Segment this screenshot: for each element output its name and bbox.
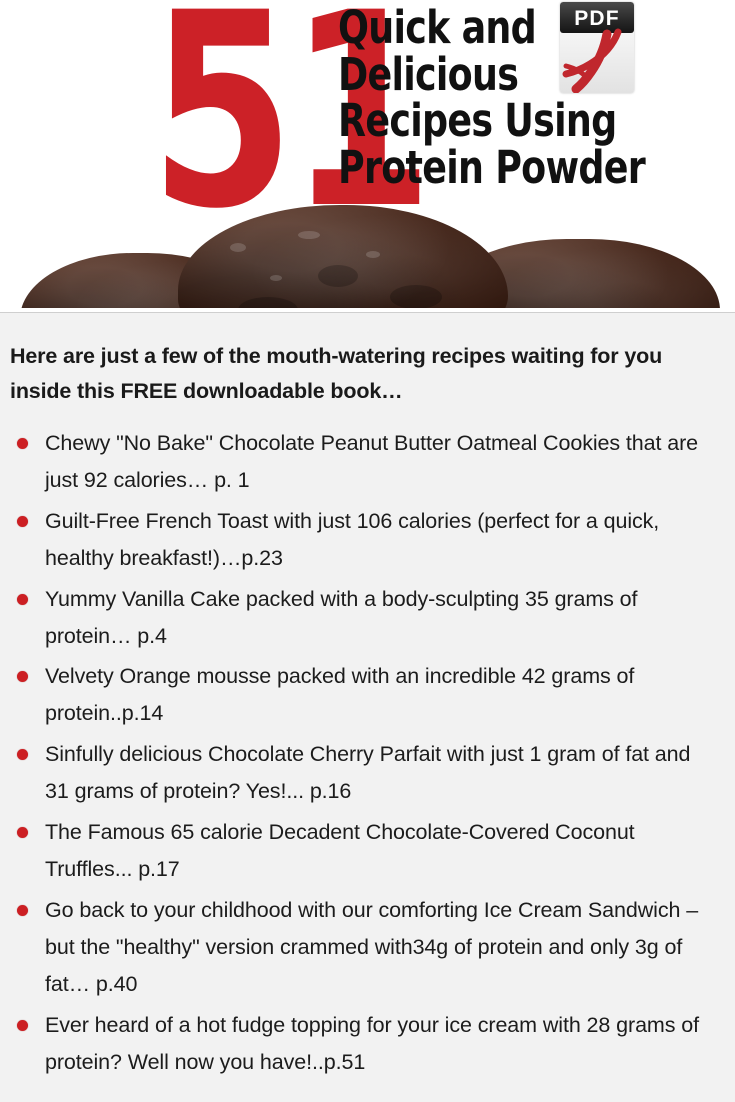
recipe-text: Sinfully delicious Chocolate Cherry Parf… (45, 742, 690, 803)
pdf-icon: PDF (560, 2, 634, 93)
list-item: Chewy "No Bake" Chocolate Peanut Butter … (0, 425, 725, 499)
list-item: Ever heard of a hot fudge topping for yo… (0, 1007, 725, 1081)
recipe-text: Guilt-Free French Toast with just 106 ca… (45, 509, 659, 570)
cookie-highlight (270, 275, 282, 281)
bullet-icon (17, 827, 28, 838)
list-item: Velvety Orange mousse packed with an inc… (0, 658, 725, 732)
content-area: Here are just a few of the mouth-waterin… (0, 313, 735, 1081)
bullet-icon (17, 671, 28, 682)
list-item: Sinfully delicious Chocolate Cherry Parf… (0, 736, 725, 810)
recipe-text: Go back to your childhood with our comfo… (45, 898, 698, 996)
bullet-icon (17, 1020, 28, 1031)
cover-title-line: Protein Powder (338, 146, 608, 190)
list-item: Yummy Vanilla Cake packed with a body-sc… (0, 581, 725, 655)
bullet-icon (17, 594, 28, 605)
list-item: Go back to your childhood with our comfo… (0, 892, 725, 1003)
svg-text:PDF: PDF (574, 7, 620, 30)
book-cover-canvas: 51 Quick and Delicious Recipes Using Pro… (0, 0, 735, 313)
recipe-text: Yummy Vanilla Cake packed with a body-sc… (45, 587, 637, 648)
bullet-icon (17, 438, 28, 449)
list-item: Guilt-Free French Toast with just 106 ca… (0, 503, 725, 577)
recipe-text: Velvety Orange mousse packed with an inc… (45, 664, 634, 725)
cookie-shadow (390, 285, 442, 309)
list-item: The Famous 65 calorie Decadent Chocolate… (0, 814, 725, 888)
recipe-text: Ever heard of a hot fudge topping for yo… (45, 1013, 699, 1074)
bullet-icon (17, 516, 28, 527)
book-cover-hero: 51 Quick and Delicious Recipes Using Pro… (0, 0, 735, 313)
cover-title-line: Recipes Using (338, 99, 608, 143)
bullet-icon (17, 749, 28, 760)
recipe-text: The Famous 65 calorie Decadent Chocolate… (45, 820, 635, 881)
hero-divider (0, 312, 735, 313)
recipe-list: Chewy "No Bake" Chocolate Peanut Butter … (0, 409, 735, 1081)
cookie-shadow (318, 265, 358, 287)
bullet-icon (17, 905, 28, 916)
lead-heading: Here are just a few of the mouth-waterin… (0, 313, 735, 409)
recipe-text: Chewy "No Bake" Chocolate Peanut Butter … (45, 431, 698, 492)
